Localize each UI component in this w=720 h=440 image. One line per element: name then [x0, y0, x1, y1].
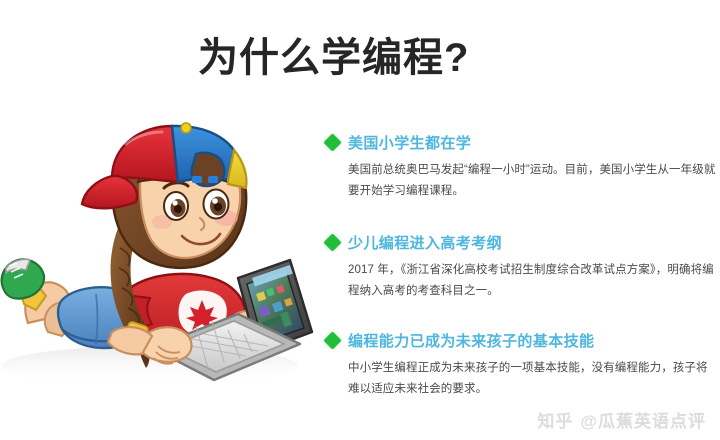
green-diamond-icon: [323, 331, 341, 349]
eye-left-pupil: [174, 205, 182, 213]
eye-right-pupil: [214, 203, 222, 211]
bullet-body-1: 美国前总统奥巴马发起“编程一小时”运动。目前，美国小学生从一年级就要开始学习编程…: [348, 160, 718, 202]
bullet-body-2: 2017 年，《浙江省深化高校考试招生制度综合改革试点方案》，明确将编程纳入高考…: [348, 260, 718, 302]
watermark-handle: @瓜蕉英语点评: [580, 407, 706, 432]
cap-strap-left: [192, 176, 202, 183]
cap-brim: [82, 176, 137, 208]
bullet-heading-3: 编程能力已成为未来孩子的基本技能: [348, 330, 594, 351]
bullet-heading-row-1: 美国小学生都在学: [326, 132, 718, 153]
green-diamond-icon: [323, 133, 341, 151]
eye-left-glint: [172, 200, 177, 205]
watermark: 知乎 @瓜蕉英语点评: [537, 407, 706, 432]
bullet-heading-row-2: 少儿编程进入高考考纲: [326, 232, 718, 253]
bullet-block-2: 少儿编程进入高考考纲 2017 年，《浙江省深化高校考试招生制度综合改革试点方案…: [326, 232, 718, 302]
bullet-heading-1: 美国小学生都在学: [348, 132, 471, 153]
eye-right-glint: [212, 198, 218, 204]
page-title: 为什么学编程?: [198, 36, 469, 80]
bullet-body-3: 中小学生编程正成为未来孩子的一项基本技能，没有编程能力，孩子将难以适应未来社会的…: [348, 358, 718, 400]
cap-button: [181, 123, 191, 133]
cap-strap-right: [208, 176, 218, 183]
watermark-platform: 知乎: [537, 407, 573, 432]
bullet-heading-2: 少儿编程进入高考考纲: [348, 232, 502, 253]
illustration-girl-with-laptop: [0, 118, 340, 413]
bullet-list: 美国小学生都在学 美国前总统奥巴马发起“编程一小时”运动。目前，美国小学生从一年…: [326, 132, 718, 420]
bullet-block-1: 美国小学生都在学 美国前总统奥巴马发起“编程一小时”运动。目前，美国小学生从一年…: [326, 132, 718, 202]
bullet-block-3: 编程能力已成为未来孩子的基本技能 中小学生编程正成为未来孩子的一项基本技能，没有…: [326, 330, 718, 400]
poster-canvas: 为什么学编程?: [0, 0, 720, 440]
bullet-heading-row-3: 编程能力已成为未来孩子的基本技能: [326, 330, 718, 351]
green-diamond-icon: [323, 233, 341, 251]
